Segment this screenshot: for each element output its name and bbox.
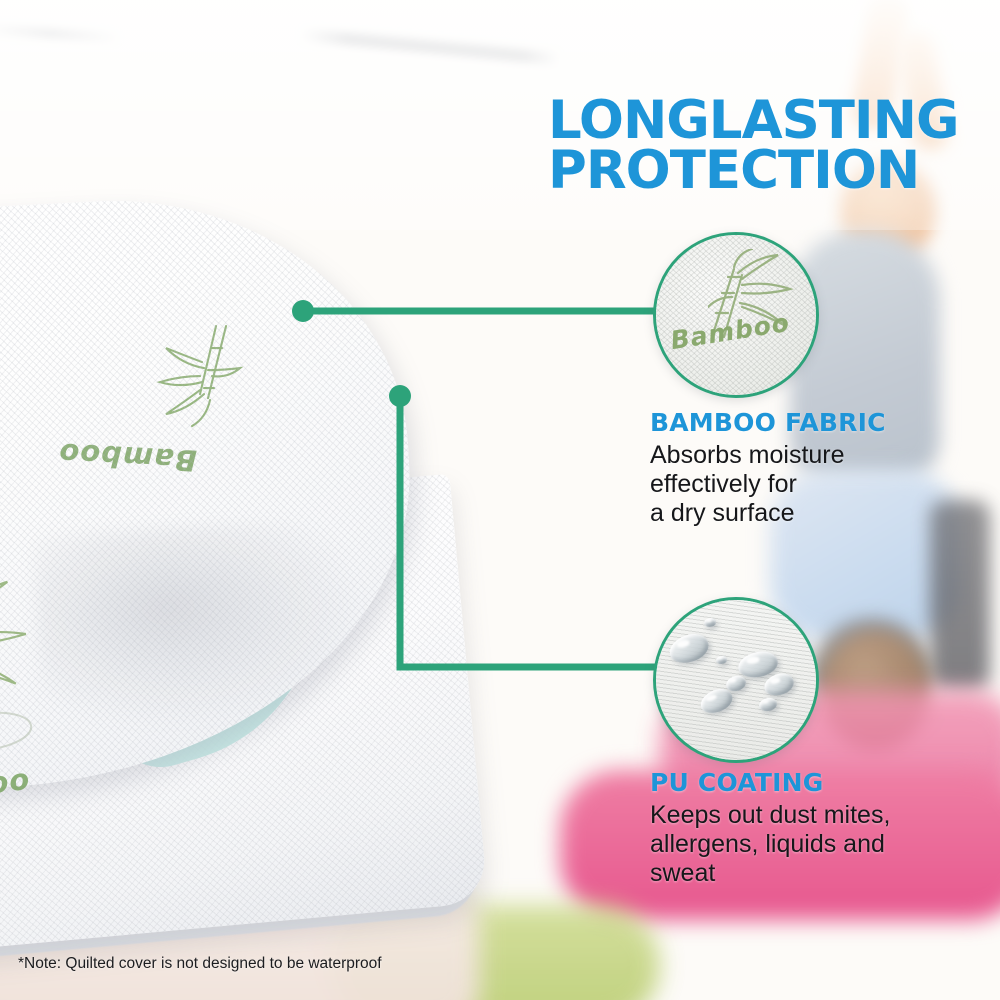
feature-title-pu-coating: PU COATING [650, 768, 980, 797]
feature-block-bamboo-fabric: BAMBOO FABRIC Absorbs moisture effective… [650, 408, 980, 528]
connector-dot-pu [389, 385, 411, 407]
feature-body-line: effectively for [650, 470, 980, 499]
headline-line-2: PROTECTION [548, 146, 998, 196]
feature-body-line: a dry surface [650, 499, 980, 528]
page-title: LONGLASTING PROTECTION [548, 96, 998, 196]
callout-bamboo-fabric: Bamboo [653, 232, 819, 398]
footnote-disclaimer: *Note: Quilted cover is not designed to … [18, 955, 382, 973]
feature-title-bamboo-fabric: BAMBOO FABRIC [650, 408, 980, 437]
feature-body-line: sweat [650, 859, 980, 888]
feature-block-pu-coating: PU COATING Keeps out dust mites, allerge… [650, 768, 980, 888]
feature-body-bamboo-fabric: Absorbs moisture effectively for a dry s… [650, 441, 980, 528]
connector-dot-bamboo [292, 300, 314, 322]
feature-body-line: Absorbs moisture [650, 441, 980, 470]
infographic-canvas: Bamboo [0, 0, 1000, 1000]
callout-pu-coating [653, 597, 819, 763]
feature-body-line: Keeps out dust mites, [650, 801, 980, 830]
feature-body-line: allergens, liquids and [650, 830, 980, 859]
feature-body-pu-coating: Keeps out dust mites, allergens, liquids… [650, 801, 980, 888]
headline-line-1: LONGLASTING [548, 96, 998, 146]
